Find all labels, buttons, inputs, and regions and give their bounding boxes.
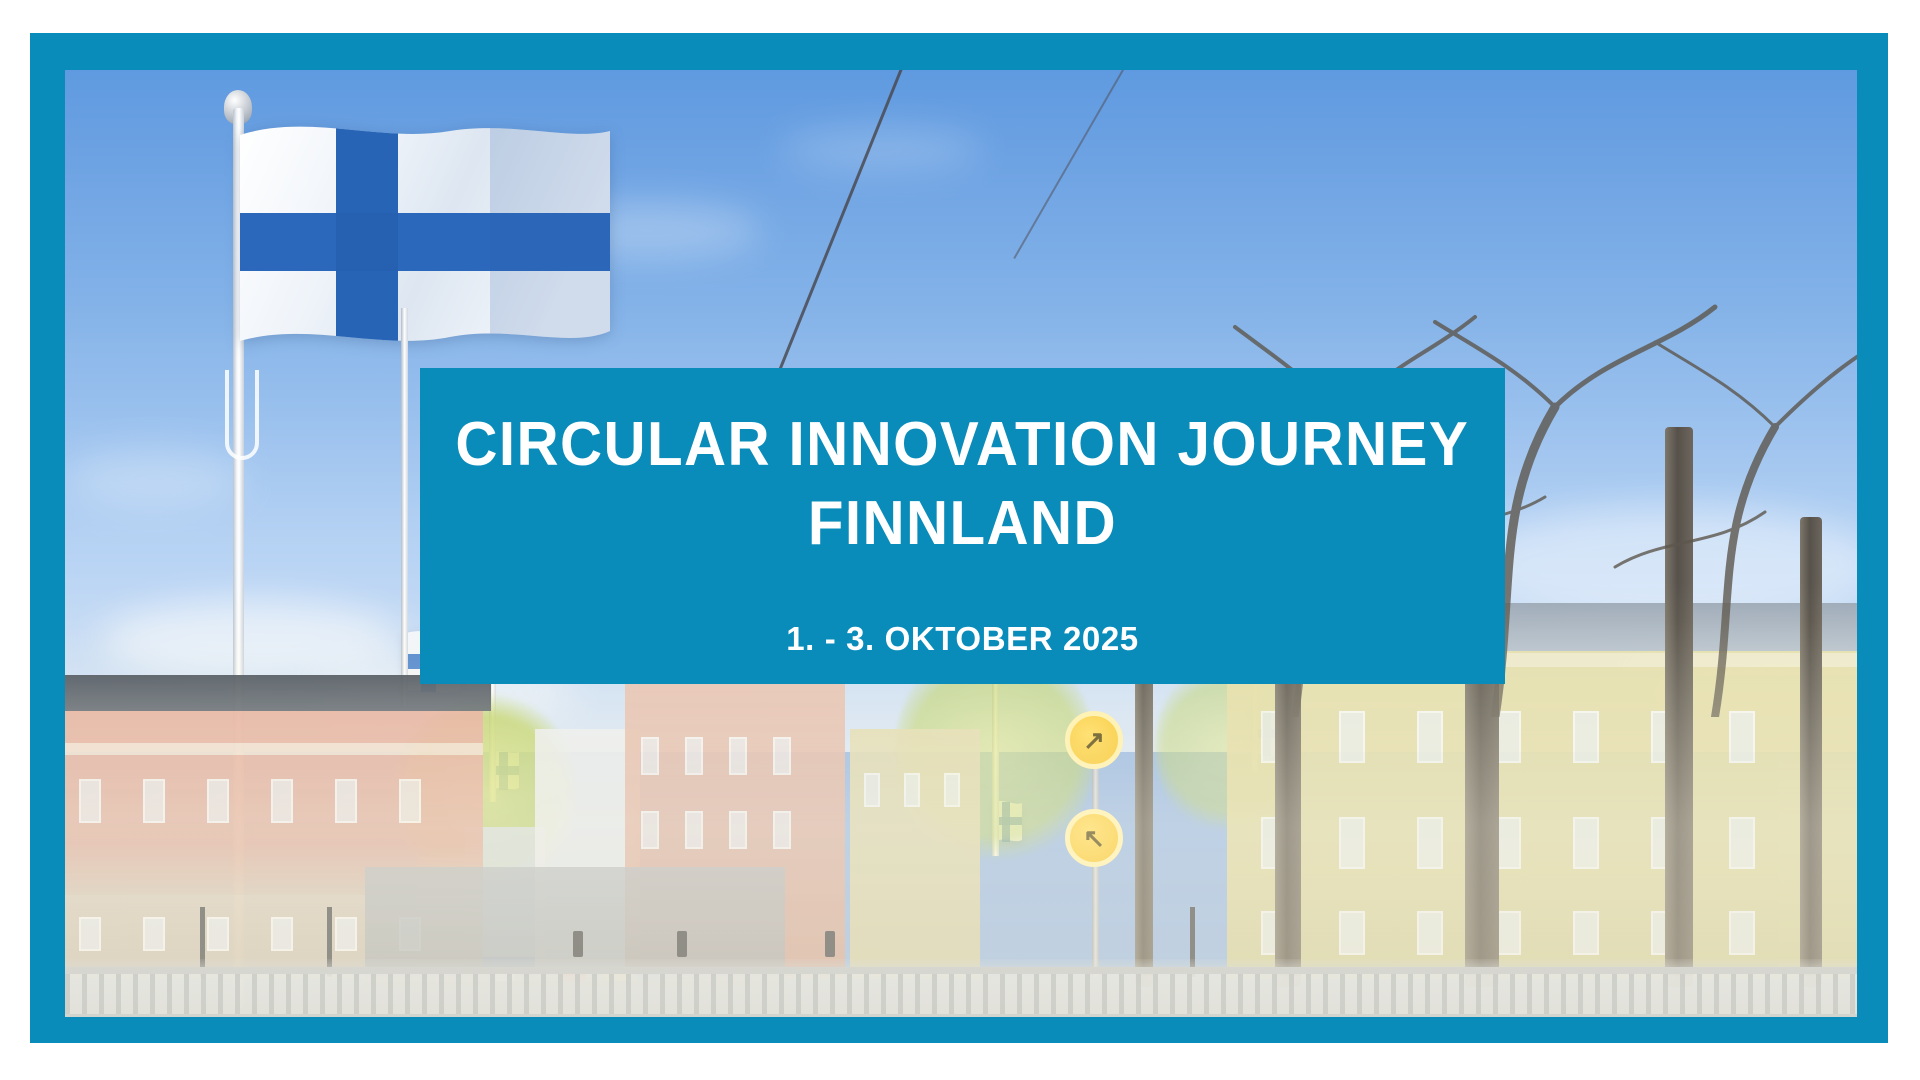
event-title-line-2: FINNLAND	[808, 491, 1117, 558]
traffic-light	[677, 931, 687, 957]
bridge-railing	[65, 959, 1857, 1017]
railing-handrail	[65, 967, 1857, 974]
window-row	[864, 773, 960, 807]
cloud	[782, 127, 982, 172]
event-date: 1. - 3. OKTOBER 2025	[786, 620, 1139, 658]
yellow-classical-building	[1227, 649, 1857, 979]
bare-tree-trunk	[1665, 427, 1693, 987]
traffic-light	[573, 931, 583, 957]
slide-root: ↗ ↖ CIRCULAR INNOVATION JOURNEY FINNLAND…	[0, 0, 1920, 1080]
turn-left-sign-icon: ↖	[1065, 809, 1123, 867]
traffic-light	[825, 931, 835, 957]
cornice	[65, 743, 483, 755]
cloud	[65, 449, 245, 509]
title-overlay-box: CIRCULAR INNOVATION JOURNEY FINNLAND 1. …	[420, 368, 1505, 684]
flag-rope	[225, 370, 259, 460]
window-row	[641, 737, 791, 775]
event-title-line-1: CIRCULAR INNOVATION JOURNEY	[456, 412, 1470, 479]
centre-cream-building	[850, 729, 980, 979]
window-row	[79, 779, 421, 823]
window-row	[641, 811, 791, 849]
railing-balusters	[65, 974, 1857, 1014]
finnish-flag-large-icon	[240, 125, 610, 370]
turn-right-sign-icon: ↗	[1065, 711, 1123, 769]
bare-tree-trunk	[1800, 517, 1822, 987]
